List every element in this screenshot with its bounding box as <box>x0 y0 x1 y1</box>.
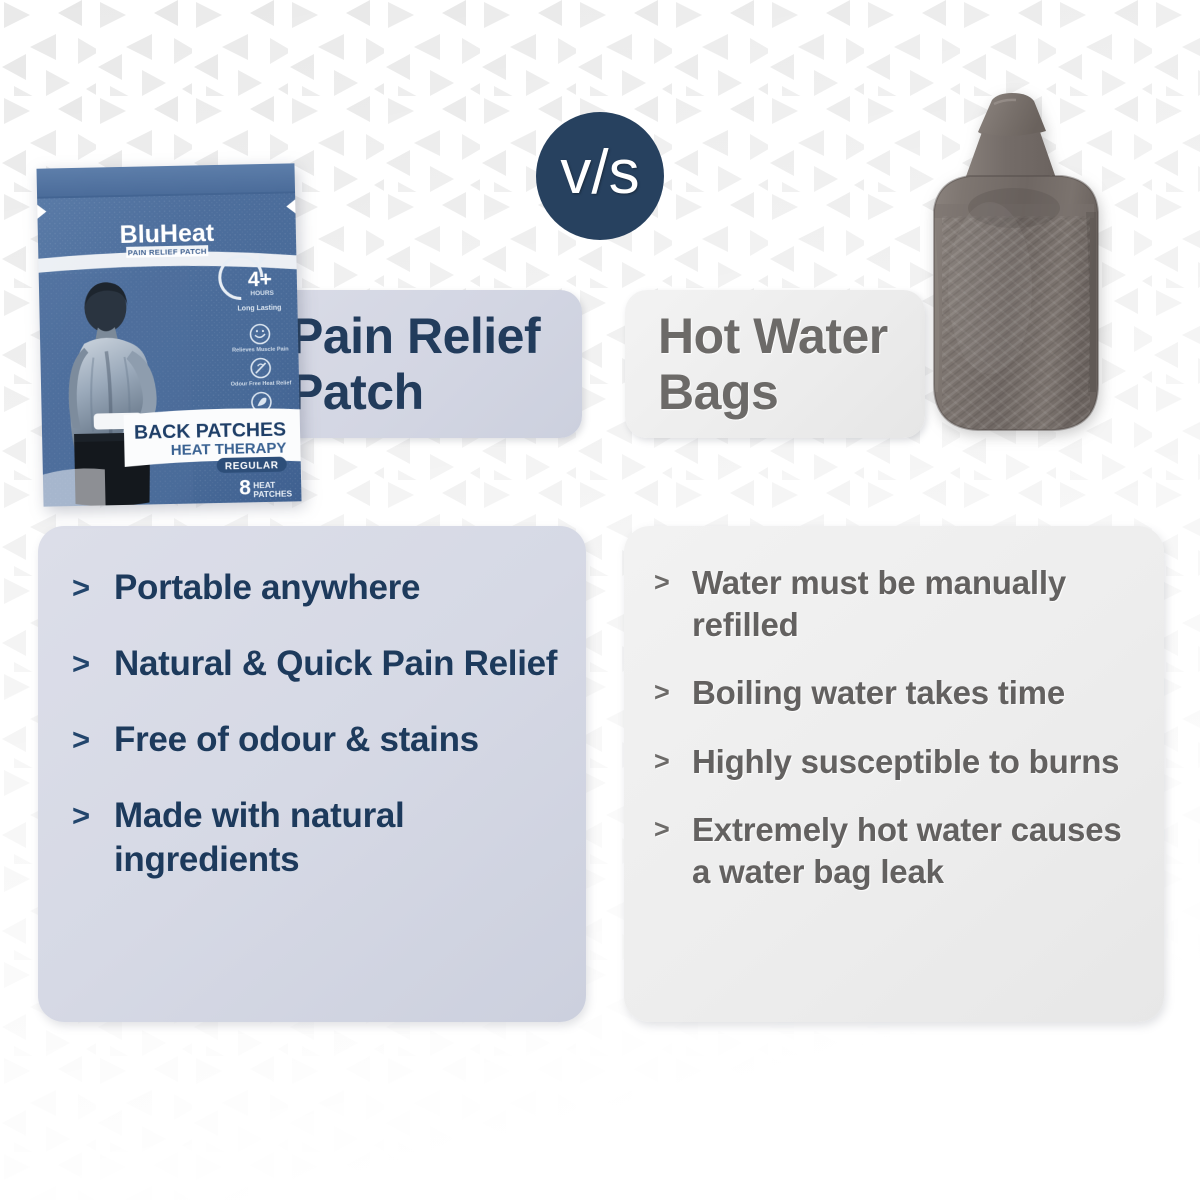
list-item-label: Natural & Quick Pain Relief <box>114 642 557 686</box>
list-item: > Highly susceptible to burns <box>654 741 1146 783</box>
package-brand-subtitle: PAIN RELIEF PATCH <box>128 247 207 258</box>
variant-badge-label: REGULAR <box>225 460 279 472</box>
column-title-left-line-1: Pain Relief <box>290 308 540 364</box>
chevron-right-icon: > <box>72 566 114 607</box>
duration-caption: Long Lasting <box>237 305 281 313</box>
benefits-list: > Portable anywhere > Natural & Quick Pa… <box>72 566 560 882</box>
chevron-right-icon: > <box>72 794 114 835</box>
chevron-right-icon: > <box>654 672 692 709</box>
list-item: > Free of odour & stains <box>72 718 560 762</box>
count-label-line-2: PATCHES <box>253 488 292 499</box>
list-item: > Water must be manually refilled <box>654 562 1146 645</box>
duration-value: 4+ <box>248 268 272 291</box>
product-pouch-icon: BluHeat PAIN RELIEF PATCH 4+ HOURS Long … <box>32 157 305 512</box>
column-title-left-line-2: Patch <box>290 364 540 420</box>
list-item: > Boiling water takes time <box>654 672 1146 714</box>
list-item: > Natural & Quick Pain Relief <box>72 642 560 686</box>
count-number: 8 <box>239 476 251 499</box>
list-item-label: Free of odour & stains <box>114 718 479 762</box>
column-title-right: Hot Water Bags <box>658 308 888 420</box>
column-header-hot-water-bags: Hot Water Bags <box>625 290 925 438</box>
column-title-right-line-1: Hot Water <box>658 308 888 364</box>
product-line-2: HEAT THERAPY <box>171 440 287 459</box>
list-item-label: Extremely hot water causes a water bag l… <box>692 809 1146 892</box>
bottle-body-icon <box>930 176 1098 432</box>
chevron-right-icon: > <box>72 718 114 759</box>
column-title-left: Pain Relief Patch <box>290 308 540 420</box>
list-item-label: Water must be manually refilled <box>692 562 1146 645</box>
drawbacks-list: > Water must be manually refilled > Boil… <box>654 562 1146 892</box>
chevron-right-icon: > <box>654 562 692 599</box>
list-item: > Portable anywhere <box>72 566 560 610</box>
list-item-label: Boiling water takes time <box>692 672 1065 714</box>
package-brand: BluHeat <box>119 219 215 249</box>
comparison-infographic: BluHeat PAIN RELIEF PATCH 4+ HOURS Long … <box>0 0 1200 1200</box>
duration-unit: HOURS <box>250 290 274 298</box>
chevron-right-icon: > <box>654 741 692 778</box>
benefit-caption-2: Odour Free Heat Relief <box>231 380 292 387</box>
benefits-panel-pain-relief-patch: > Portable anywhere > Natural & Quick Pa… <box>38 526 586 1022</box>
list-item: > Extremely hot water causes a water bag… <box>654 809 1146 892</box>
list-item-label: Portable anywhere <box>114 566 420 610</box>
benefit-caption-1: Relieves Muscle Pain <box>232 346 289 353</box>
hot-water-bottle-icon <box>898 92 1130 474</box>
versus-badge-icon: v/s <box>536 112 664 240</box>
list-item-label: Highly susceptible to burns <box>692 741 1119 783</box>
chevron-right-icon: > <box>654 809 692 846</box>
versus-badge-label: v/s <box>560 142 639 204</box>
column-title-right-line-2: Bags <box>658 364 888 420</box>
list-item: > Made with natural ingredients <box>72 794 560 882</box>
drawbacks-panel-hot-water-bags: > Water must be manually refilled > Boil… <box>624 526 1164 1022</box>
list-item-label: Made with natural ingredients <box>114 794 560 882</box>
chevron-right-icon: > <box>72 642 114 683</box>
